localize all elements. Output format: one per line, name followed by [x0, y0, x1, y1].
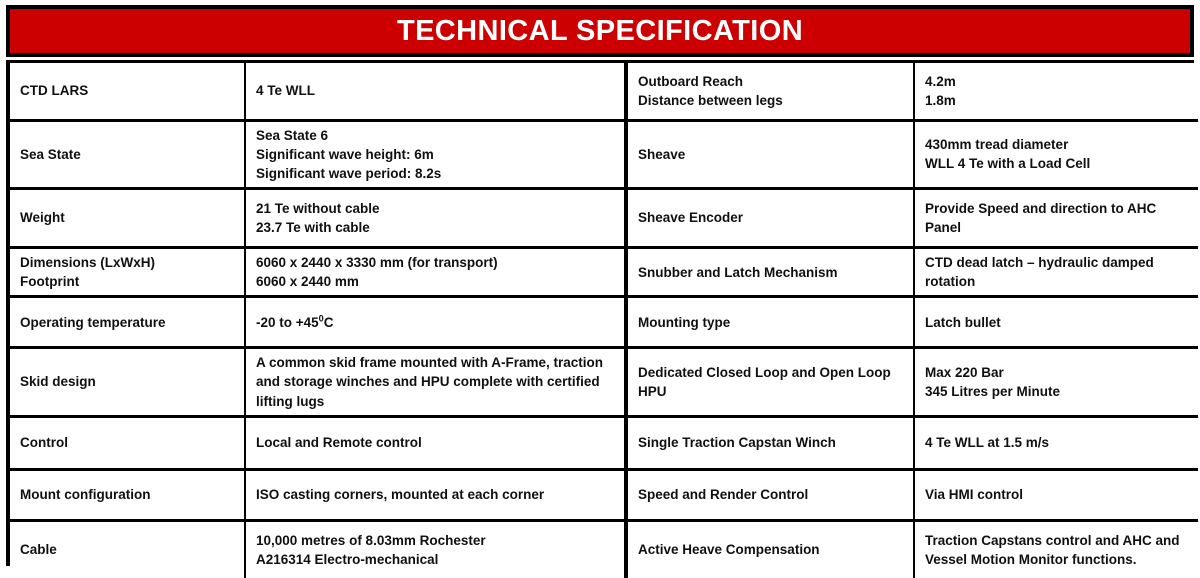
spec-value-mounting-type: Latch bullet — [914, 297, 1198, 348]
spec-value-dimensions: 6060 x 2440 x 3330 mm (for transport) 60… — [245, 247, 626, 296]
spec-value-sheave-encoder: Provide Speed and direction to AHC Panel — [914, 188, 1198, 247]
cell-text: Via HMI control — [925, 485, 1189, 504]
cell-text: Local and Remote control — [256, 433, 615, 452]
spec-value-hpu: Max 220 Bar 345 Litres per Minute — [914, 348, 1198, 416]
spec-value-control: Local and Remote control — [245, 416, 626, 469]
cell-text: Latch bullet — [925, 313, 1189, 332]
cell-text: Operating temperature — [20, 313, 235, 332]
spec-label-speed-render-control: Speed and Render Control — [626, 469, 914, 520]
cell-text: -20 to +450C — [256, 313, 615, 332]
cell-text: 10,000 metres of 8.03mm Rochester — [256, 531, 615, 550]
spec-label-mounting-type: Mounting type — [626, 297, 914, 348]
cell-text: Dedicated Closed Loop and Open Loop HPU — [638, 363, 904, 401]
temperature-range: -20 to +45 — [256, 315, 319, 330]
spec-label-hpu: Dedicated Closed Loop and Open Loop HPU — [626, 348, 914, 416]
spec-value-skid-design: A common skid frame mounted with A-Frame… — [245, 348, 626, 416]
cell-text: Sheave — [638, 145, 904, 164]
spec-label-snubber-latch: Snubber and Latch Mechanism — [626, 247, 914, 296]
cell-text: 23.7 Te with cable — [256, 218, 615, 237]
cell-text: 4 Te WLL at 1.5 m/s — [925, 433, 1189, 452]
spec-value-operating-temperature: -20 to +450C — [245, 297, 626, 348]
cell-text: Dimensions (LxWxH) — [20, 253, 235, 272]
cell-text: 345 Litres per Minute — [925, 382, 1189, 401]
spec-label-mount-configuration: Mount configuration — [10, 469, 245, 520]
cell-text: Significant wave height: 6m — [256, 145, 615, 164]
table-row: Control Local and Remote control Single … — [10, 416, 1198, 469]
cell-text: WLL 4 Te with a Load Cell — [925, 154, 1189, 173]
table-row: Skid design A common skid frame mounted … — [10, 348, 1198, 416]
table-row: CTD LARS 4 Te WLL Outboard Reach Distanc… — [10, 63, 1198, 120]
cell-text: A common skid frame mounted with A-Frame… — [256, 353, 615, 410]
spec-label-cable: Cable — [10, 520, 245, 578]
spec-label-active-heave-compensation: Active Heave Compensation — [626, 520, 914, 578]
cell-text: CTD dead latch – hydraulic damped rotati… — [925, 253, 1189, 291]
cell-text: Snubber and Latch Mechanism — [638, 263, 904, 282]
cell-text: 1.8m — [925, 91, 1189, 110]
cell-text: Weight — [20, 208, 235, 227]
cell-text: 4 Te WLL — [256, 81, 615, 100]
spec-value-speed-render-control: Via HMI control — [914, 469, 1198, 520]
cell-text: Single Traction Capstan Winch — [638, 433, 904, 452]
spec-label-capstan-winch: Single Traction Capstan Winch — [626, 416, 914, 469]
cell-text: Sea State 6 — [256, 126, 615, 145]
cell-text: 6060 x 2440 x 3330 mm (for transport) — [256, 253, 615, 272]
cell-text: Significant wave period: 8.2s — [256, 164, 615, 183]
spec-value-sheave: 430mm tread diameter WLL 4 Te with a Loa… — [914, 120, 1198, 188]
cell-text: 6060 x 2440 mm — [256, 272, 615, 291]
cell-text: Cable — [20, 540, 235, 559]
cell-text: Mount configuration — [20, 485, 235, 504]
spec-label-sheave: Sheave — [626, 120, 914, 188]
spec-value-ctd-lars: 4 Te WLL — [245, 63, 626, 120]
spec-value-snubber-latch: CTD dead latch – hydraulic damped rotati… — [914, 247, 1198, 296]
spec-value-mount-configuration: ISO casting corners, mounted at each cor… — [245, 469, 626, 520]
page-title-banner: TECHNICAL SPECIFICATION — [6, 5, 1194, 57]
cell-text: Speed and Render Control — [638, 485, 904, 504]
page-title: TECHNICAL SPECIFICATION — [397, 17, 803, 46]
spec-label-dimensions: Dimensions (LxWxH) Footprint — [10, 247, 245, 296]
cell-text: Mounting type — [638, 313, 904, 332]
spec-label-skid-design: Skid design — [10, 348, 245, 416]
table-row: Cable 10,000 metres of 8.03mm Rochester … — [10, 520, 1198, 578]
spec-value-active-heave-compensation: Traction Capstans control and AHC and Ve… — [914, 520, 1198, 578]
spec-label-sheave-encoder: Sheave Encoder — [626, 188, 914, 247]
cell-text: 21 Te without cable — [256, 199, 615, 218]
cell-text: Distance between legs — [638, 91, 904, 110]
spec-value-capstan-winch: 4 Te WLL at 1.5 m/s — [914, 416, 1198, 469]
cell-text: 4.2m — [925, 72, 1189, 91]
table-row: Mount configuration ISO casting corners,… — [10, 469, 1198, 520]
cell-text: Control — [20, 433, 235, 452]
spec-value-outboard-reach: 4.2m 1.8m — [914, 63, 1198, 120]
spec-label-operating-temperature: Operating temperature — [10, 297, 245, 348]
temperature-unit: C — [324, 315, 334, 330]
cell-text: Provide Speed and direction to AHC Panel — [925, 199, 1189, 237]
cell-text: Max 220 Bar — [925, 363, 1189, 382]
spec-value-cable: 10,000 metres of 8.03mm Rochester A21631… — [245, 520, 626, 578]
table-row: Dimensions (LxWxH) Footprint 6060 x 2440… — [10, 247, 1198, 296]
spec-value-sea-state: Sea State 6 Significant wave height: 6m … — [245, 120, 626, 188]
spec-label-sea-state: Sea State — [10, 120, 245, 188]
cell-text: 430mm tread diameter — [925, 135, 1189, 154]
spec-label-weight: Weight — [10, 188, 245, 247]
spec-value-weight: 21 Te without cable 23.7 Te with cable — [245, 188, 626, 247]
cell-text: Outboard Reach — [638, 72, 904, 91]
table-row: Weight 21 Te without cable 23.7 Te with … — [10, 188, 1198, 247]
spec-label-outboard-reach: Outboard Reach Distance between legs — [626, 63, 914, 120]
cell-text: Active Heave Compensation — [638, 540, 904, 559]
cell-text: Traction Capstans control and AHC and Ve… — [925, 531, 1189, 569]
cell-text: ISO casting corners, mounted at each cor… — [256, 485, 615, 504]
cell-text: Skid design — [20, 372, 235, 391]
technical-specification-sheet: TECHNICAL SPECIFICATION CTD LARS 4 Te WL… — [0, 0, 1200, 571]
table-row: Sea State Sea State 6 Significant wave h… — [10, 120, 1198, 188]
table-row: Operating temperature -20 to +450C Mount… — [10, 297, 1198, 348]
cell-text: Sheave Encoder — [638, 208, 904, 227]
spec-label-ctd-lars: CTD LARS — [10, 63, 245, 120]
cell-text: A216314 Electro-mechanical — [256, 550, 615, 569]
cell-text: Footprint — [20, 272, 235, 291]
cell-text: Sea State — [20, 145, 235, 164]
spec-label-control: Control — [10, 416, 245, 469]
specification-table-container: CTD LARS 4 Te WLL Outboard Reach Distanc… — [6, 60, 1194, 566]
specification-table: CTD LARS 4 Te WLL Outboard Reach Distanc… — [10, 63, 1198, 578]
cell-text: CTD LARS — [20, 81, 235, 100]
